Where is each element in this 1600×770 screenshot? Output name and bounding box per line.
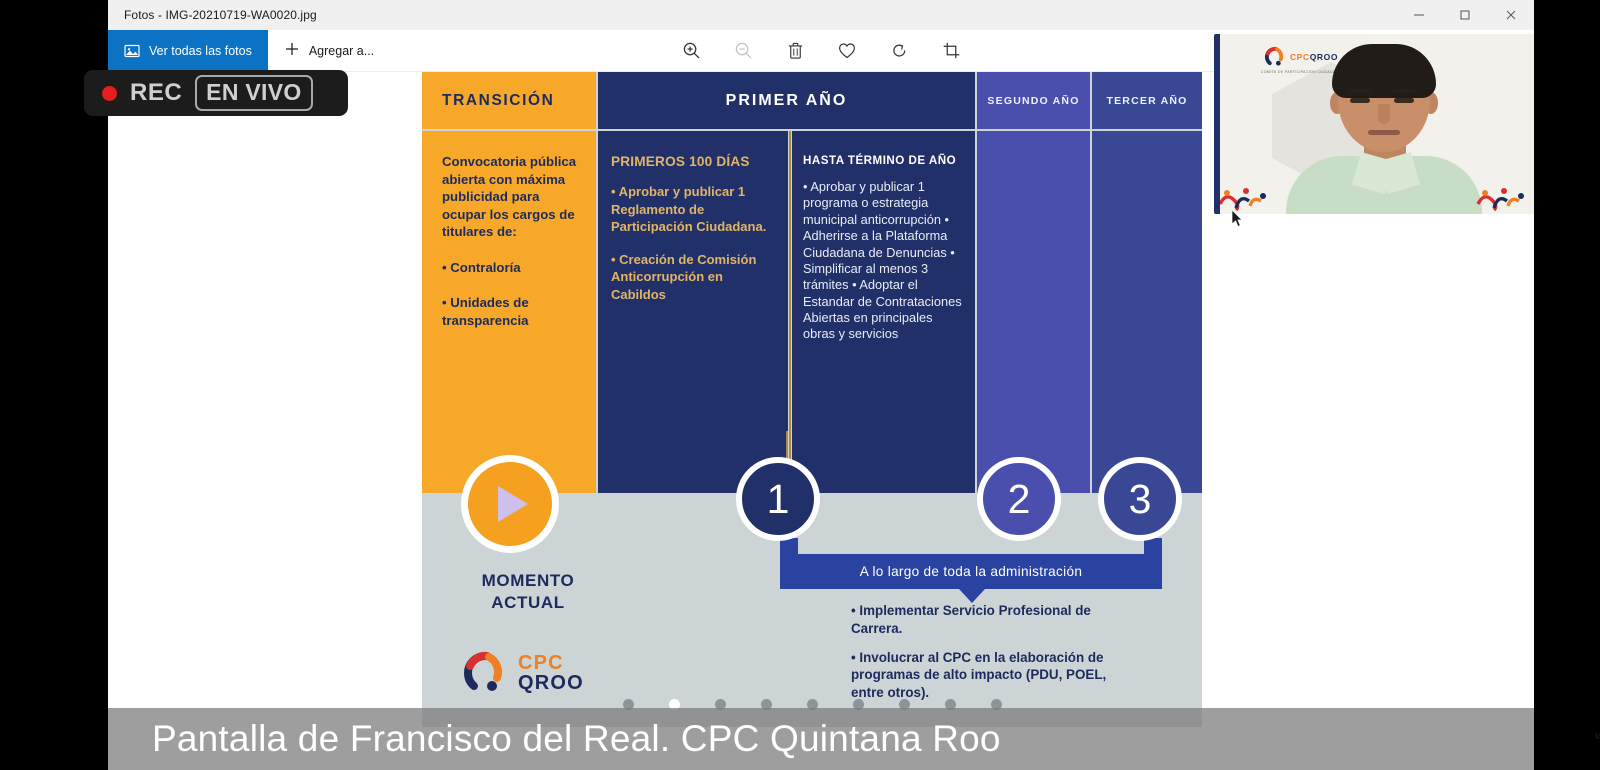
image-tools [676,36,966,66]
gold-connector [786,431,788,461]
primeros-100-bullet-2: • Creación de Comisión Anticorrupción en… [611,251,780,304]
column-transicion: Convocatoria pública abierta con máxima … [422,131,596,493]
transicion-bullet-2: • Unidades de transparencia [442,294,578,329]
hasta-termino-heading: HASTA TÉRMINO DE AÑO [792,131,975,167]
plus-icon [284,41,300,60]
participant-brow-right [1393,89,1415,93]
delete-icon[interactable] [780,36,810,66]
column-hasta-termino: HASTA TÉRMINO DE AÑO • Aprobar y publica… [792,131,975,493]
bracket-bar: A lo largo de toda la administración [780,554,1162,589]
cpc-logo-mark [462,650,508,696]
favorite-icon[interactable] [832,36,862,66]
backdrop-confetti-right [1474,182,1532,212]
header-transicion: TRANSICIÓN [422,72,596,129]
participant-brow-left [1349,89,1371,93]
cpc-logo-wordmark: CPC QROO [518,653,584,694]
participant-nose [1378,104,1390,124]
column-divider [789,131,791,493]
header-tercer-ano: TERCER AÑO [1092,72,1202,129]
milestone-label-1: 1 [767,476,790,523]
milestone-circle-1: 1 [736,457,820,541]
cpc-qroo-logo: CPC QROO [462,647,612,699]
live-label: EN VIVO [195,75,312,111]
view-all-photos-button[interactable]: Ver todas las fotos [108,30,268,72]
milestone-circle-3: 3 [1098,457,1182,541]
participant-hair [1332,44,1436,98]
crop-icon[interactable] [936,36,966,66]
bracket-label: A lo largo de toda la administración [860,564,1082,579]
primeros-100-heading: PRIMEROS 100 DÍAS [598,131,788,169]
participant-eye-right [1394,98,1414,103]
header-primer-ano-label: PRIMER AÑO [726,92,848,110]
close-icon[interactable] [1488,0,1534,30]
webcam-left-strip [1214,34,1220,214]
momento-line-2: ACTUAL [458,592,598,614]
momento-line-1: MOMENTO [458,570,598,592]
mouse-cursor [1232,210,1244,228]
minimize-icon[interactable] [1396,0,1442,30]
header-segundo-ano-label: SEGUNDO AÑO [987,95,1079,107]
zoom-in-icon[interactable] [676,36,706,66]
hasta-termino-bullets: • Aprobar y publicar 1 programa o estrat… [792,167,975,343]
header-segundo-ano: SEGUNDO AÑO [977,72,1090,129]
window-controls [1396,0,1534,30]
column-primeros-100-dias: PRIMEROS 100 DÍAS • Aprobar y publicar 1… [598,131,788,493]
expand-icon[interactable] [1592,720,1600,742]
backdrop-logo-mark [1264,46,1286,68]
photos-icon [124,43,140,59]
maximize-icon[interactable] [1442,0,1488,30]
play-arrow-icon [461,455,559,553]
webcam-feed[interactable]: CPCQROO COMITE DE PARTICIPACION CIUDADAN… [1214,34,1534,214]
view-all-photos-label: Ver todas las fotos [149,44,252,58]
transicion-bullet-1: • Contraloría [442,259,578,277]
add-to-label: Agregar a... [309,44,374,58]
add-to-button[interactable]: Agregar a... [268,30,390,72]
rotate-icon[interactable] [884,36,914,66]
header-primer-ano: PRIMER AÑO [598,72,975,129]
screen-root: Fotos - IMG-20210719-WA0020.jpg [0,0,1600,770]
caption-text: Pantalla de Francisco del Real. CPC Quin… [108,718,1001,760]
screen-share-caption: Pantalla de Francisco del Real. CPC Quin… [108,708,1534,770]
transicion-intro: Convocatoria pública abierta con máxima … [442,153,578,241]
milestone-label-2: 2 [1008,476,1031,523]
backdrop-confetti-left [1216,182,1274,212]
milestone-circle-2: 2 [977,457,1061,541]
milestone-label-3: 3 [1129,476,1152,523]
recording-badge: REC EN VIVO [84,70,348,116]
column-segundo-ano [977,131,1090,493]
bottom-bullet-1: • Implementar Servicio Profesional de Ca… [851,602,1141,638]
slide-image: TRANSICIÓN PRIMER AÑO SEGUNDO AÑO TERCER… [422,72,1202,727]
record-dot-icon [102,86,117,101]
slide-header-row: TRANSICIÓN PRIMER AÑO SEGUNDO AÑO TERCER… [422,72,1202,129]
participant-eye-left [1350,98,1370,103]
header-tercer-ano-label: TERCER AÑO [1106,95,1187,107]
rec-label: REC [130,79,182,107]
header-transicion-label: TRANSICIÓN [422,92,554,110]
window-titlebar: Fotos - IMG-20210719-WA0020.jpg [108,0,1534,30]
bottom-bullets: • Implementar Servicio Profesional de Ca… [851,602,1141,702]
column-tercer-ano [1092,131,1202,493]
cpc-logo-bottom: QROO [518,673,584,693]
zoom-out-icon[interactable] [728,36,758,66]
participant-figure [1302,48,1466,214]
cpc-logo-top: CPC [518,653,584,673]
slide-body-row: Convocatoria pública abierta con máxima … [422,131,1202,493]
participant-mouth [1368,130,1400,135]
momento-actual-label: MOMENTO ACTUAL [458,570,598,614]
window-title: Fotos - IMG-20210719-WA0020.jpg [108,8,317,22]
play-triangle [498,486,528,522]
bracket-notch [959,589,985,603]
primeros-100-bullet-1: • Aprobar y publicar 1 Reglamento de Par… [611,183,780,236]
